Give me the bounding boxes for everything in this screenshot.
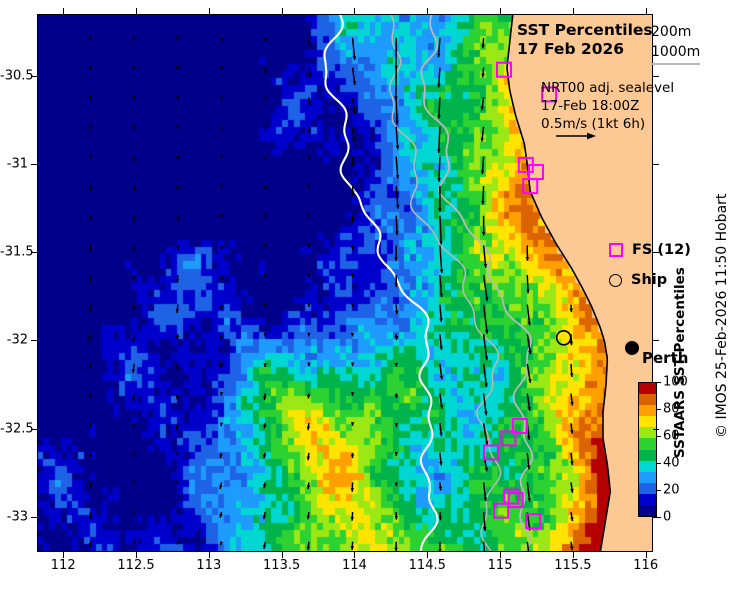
- map-title: SST Percentiles 17 Feb 2026: [517, 21, 653, 59]
- colorbar-band-2: [639, 483, 656, 494]
- current-vector-head: [132, 219, 136, 223]
- x-axis-tick-label: 114.5: [409, 558, 446, 573]
- colorbar-tick-label: 80: [663, 402, 680, 417]
- current-vector-head: [220, 246, 224, 250]
- current-vector-head: [438, 549, 442, 552]
- y-axis-tick-label: -32: [0, 333, 28, 348]
- y-axis-tick-label: -31: [0, 156, 28, 171]
- current-vector-head: [220, 127, 224, 131]
- current-vector-head: [437, 84, 441, 88]
- current-vector-head: [437, 149, 441, 153]
- model-info-block: NRT00 adj. sealevel 17-Feb 18:00Z 0.5m/s…: [541, 79, 674, 133]
- current-vector-head: [439, 318, 443, 322]
- current-vector-head: [220, 185, 224, 189]
- current-vector-head: [263, 363, 267, 367]
- colorbar-tick-label: 100: [663, 375, 688, 390]
- colorbar-tick-label: 60: [663, 429, 680, 444]
- bathymetry-200m-contour-branch: [390, 15, 501, 552]
- current-vector-arrow: [484, 305, 488, 334]
- current-vector-arrow: [440, 245, 442, 273]
- x-axis-tick-top: [209, 8, 210, 14]
- current-vector-head: [307, 333, 311, 337]
- ship-circle-icon: [609, 274, 622, 287]
- current-vector-head: [220, 155, 224, 159]
- y-axis-tick-right: [653, 340, 659, 341]
- colorbar-tick-label: 20: [663, 483, 680, 498]
- x-axis-tick-label: 116: [633, 558, 658, 573]
- current-vector-head: [89, 96, 93, 100]
- current-vector-head: [89, 485, 93, 489]
- colorbar-band-0: [639, 505, 656, 516]
- colorbar-tick: [657, 463, 661, 464]
- current-vector-head: [176, 186, 180, 190]
- current-vector-head: [440, 269, 444, 273]
- y-axis-tick-label: -32.5: [0, 421, 28, 436]
- bathymetry-depth-legend: 200m 1000m: [651, 22, 700, 65]
- current-vector-head: [263, 274, 267, 278]
- current-vector-head: [440, 293, 444, 297]
- y-axis-tick-right: [653, 76, 659, 77]
- colorbar-band-11: [639, 383, 656, 394]
- current-vector-head: [89, 424, 93, 428]
- current-vector-head: [394, 257, 398, 261]
- current-vector-head: [351, 219, 355, 223]
- current-vector-head: [351, 517, 355, 521]
- current-vector-head: [526, 290, 530, 294]
- x-axis-tick-label: 113: [196, 558, 221, 573]
- x-axis-tick-top: [136, 8, 137, 14]
- y-axis-tick-label: -30.5: [0, 68, 28, 83]
- current-vector-head: [263, 333, 267, 337]
- current-vector-head: [481, 74, 485, 78]
- colorbar-band-6: [639, 438, 656, 449]
- current-vector-head: [351, 303, 355, 307]
- current-vector-arrow: [440, 216, 441, 245]
- current-vector-head: [264, 69, 268, 73]
- current-vector-head: [263, 303, 267, 307]
- current-vector-head: [176, 247, 180, 251]
- current-vector-head: [307, 395, 311, 399]
- info-line-2: 17-Feb 18:00Z: [541, 97, 674, 115]
- current-vector-arrow: [484, 275, 488, 301]
- current-vector-head: [89, 187, 93, 191]
- current-vector-head: [351, 164, 355, 168]
- colorbar-tick: [657, 436, 661, 437]
- current-vector-head: [396, 146, 400, 150]
- current-vector-head: [352, 137, 356, 141]
- current-vector-head: [351, 422, 355, 426]
- fs-station-marker: [494, 504, 508, 518]
- colorbar-band-10: [639, 394, 656, 405]
- current-vector-head: [89, 36, 93, 40]
- current-vector-head: [132, 540, 136, 544]
- title-line-2: 17 Feb 2026: [517, 40, 653, 59]
- x-axis-tick-label: 113.5: [263, 558, 300, 573]
- current-vector-head: [351, 546, 355, 550]
- current-vector-head: [351, 392, 355, 396]
- current-vector-head: [351, 363, 355, 367]
- legend-item-fs: FS (12): [609, 242, 691, 258]
- x-axis-tick-top: [63, 8, 64, 14]
- current-vector-head: [220, 214, 224, 218]
- colorbar-tick: [657, 409, 661, 410]
- fs-station-marker: [509, 493, 523, 507]
- current-vector-head: [483, 527, 487, 531]
- colorbar-tick: [657, 517, 661, 518]
- current-vector-head: [263, 244, 267, 248]
- current-vector-head: [394, 452, 398, 456]
- current-vector-head: [89, 66, 93, 70]
- current-vector-head: [481, 171, 485, 175]
- colorbar-band-3: [639, 472, 656, 483]
- current-vector-head: [394, 363, 398, 367]
- current-vector-head: [570, 373, 574, 377]
- current-vector-head: [176, 336, 180, 340]
- y-axis-tick: [31, 340, 37, 341]
- colorbar-band-9: [639, 405, 656, 416]
- colorbar-tick: [657, 382, 661, 383]
- current-vector-head: [307, 363, 311, 367]
- x-axis-tick-label: 112.5: [117, 558, 154, 573]
- current-vector-head: [307, 274, 311, 278]
- current-vector-head: [176, 217, 180, 221]
- legend-label-fs: FS (12): [632, 242, 691, 258]
- current-vector-head: [176, 96, 180, 100]
- contour-200m-label: 200m: [651, 22, 691, 42]
- fs-station-marker: [497, 63, 511, 77]
- current-vector-head: [89, 516, 93, 520]
- current-vector-head: [394, 548, 398, 552]
- fs-station-square-icon: [609, 243, 623, 257]
- current-vector-head: [307, 546, 311, 550]
- sst-colorbar: [638, 382, 657, 517]
- current-vector-head: [132, 36, 136, 40]
- y-axis-tick-right: [653, 252, 659, 253]
- current-vector-head: [351, 455, 355, 459]
- current-vector-head: [438, 208, 442, 212]
- current-vector-head: [132, 66, 136, 70]
- current-vector-head: [89, 543, 93, 547]
- bathymetry-200m-contour: [421, 15, 532, 552]
- current-vector-head: [132, 157, 136, 161]
- current-vector-head: [437, 178, 441, 182]
- current-vector-head: [176, 125, 180, 129]
- colorbar-band-1: [639, 494, 656, 505]
- current-vector-head: [395, 336, 399, 340]
- x-axis-tick-top: [573, 8, 574, 14]
- current-vector-head: [351, 333, 355, 337]
- current-vector-head: [307, 244, 311, 248]
- current-vector-head: [437, 115, 441, 119]
- current-vector-head: [89, 216, 93, 220]
- x-axis-tick-top: [500, 8, 501, 14]
- current-vector-head: [307, 214, 311, 218]
- x-axis-tick-label: 112: [51, 558, 76, 573]
- colorbar-tick: [657, 490, 661, 491]
- current-vector-head: [220, 306, 224, 310]
- current-vector-head: [569, 309, 573, 313]
- current-vector-head: [89, 454, 93, 458]
- current-vector-head: [439, 487, 443, 491]
- y-axis-tick-label: -31.5: [0, 245, 28, 260]
- copyright-credit: © IMOS 25-Feb-2026 11:50 Hobart: [714, 194, 730, 438]
- ship-position-marker: [557, 331, 571, 345]
- bathymetry-1000m-contour: [325, 15, 438, 552]
- y-axis-tick-right: [653, 164, 659, 165]
- current-vector-head: [132, 188, 136, 192]
- current-vector-head: [88, 248, 92, 252]
- current-vector-head: [307, 303, 311, 307]
- current-vector-head: [351, 488, 355, 492]
- current-vector-arrow: [439, 157, 440, 182]
- x-axis-tick-label: 115.5: [554, 558, 591, 573]
- city-marker-icon: [625, 341, 639, 355]
- x-axis-tick-top: [646, 8, 647, 14]
- info-line-1: NRT00 adj. sealevel: [541, 79, 674, 97]
- legend-label-ship: Ship: [631, 272, 667, 288]
- colorbar-band-8: [639, 416, 656, 427]
- current-vector-head: [351, 274, 355, 278]
- current-vector-arrow: [439, 127, 440, 153]
- current-vector-head: [395, 516, 399, 520]
- colorbar-tick-label: 40: [663, 456, 680, 471]
- current-vector-head: [395, 231, 399, 235]
- current-vector-head: [394, 283, 398, 287]
- current-vector-head: [482, 232, 486, 236]
- current-vector-head: [89, 125, 93, 129]
- current-vector-head: [395, 394, 399, 398]
- current-vector-head: [481, 201, 485, 205]
- x-axis-tick-label: 114: [342, 558, 367, 573]
- x-axis-tick-label: 115: [488, 558, 513, 573]
- current-vector-head: [132, 96, 136, 100]
- y-axis-tick-right: [653, 429, 659, 430]
- current-vector-head: [351, 191, 355, 195]
- current-vector-head: [176, 279, 180, 283]
- colorbar-band-4: [639, 461, 656, 472]
- current-vector-arrow: [396, 97, 397, 124]
- x-axis-tick-top: [354, 8, 355, 14]
- current-vector-head: [396, 205, 400, 209]
- y-axis-tick-label: -33: [0, 509, 28, 524]
- current-vector-head: [394, 483, 398, 487]
- x-axis-tick-top: [282, 8, 283, 14]
- legend-item-ship: Ship: [609, 272, 667, 288]
- current-vector-head: [220, 277, 224, 281]
- y-axis-tick: [31, 164, 37, 165]
- colorbar-band-5: [639, 450, 656, 461]
- current-vector-head: [396, 175, 400, 179]
- current-vector-head: [176, 309, 180, 313]
- sst-percentiles-map: SST Percentiles 17 Feb 2026 200m 1000m N…: [0, 0, 740, 592]
- colorbar-tick-label: 0: [663, 510, 671, 525]
- current-vector-head: [395, 311, 399, 315]
- current-vector-head: [438, 517, 442, 521]
- current-vector-head: [481, 45, 485, 49]
- y-axis-tick: [31, 517, 37, 518]
- current-vector-head: [395, 121, 399, 125]
- current-vector-head: [394, 423, 398, 427]
- current-vector-head: [526, 257, 530, 261]
- contour-1000m-label: 1000m: [651, 42, 700, 65]
- vector-scale-arrow-icon: [556, 131, 596, 141]
- current-vector-head: [89, 155, 93, 159]
- x-axis-tick-top: [427, 8, 428, 14]
- current-vector-head: [437, 54, 441, 58]
- current-vector-head: [351, 247, 355, 251]
- title-line-1: SST Percentiles: [517, 21, 653, 40]
- current-vector-head: [176, 366, 180, 370]
- current-vector-head: [176, 156, 180, 160]
- fs-station-marker: [504, 490, 518, 504]
